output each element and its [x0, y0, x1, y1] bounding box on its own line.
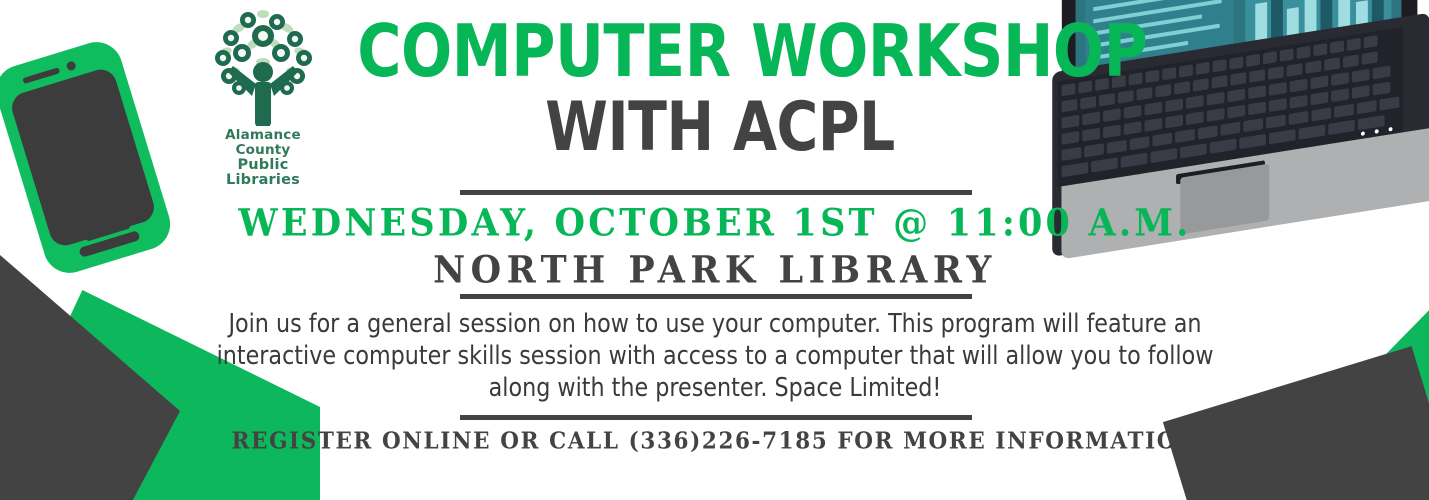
- flyer-canvas: Alamance County Public Libraries COMPUTE…: [0, 0, 1429, 500]
- event-description: Join us for a general session on how to …: [201, 308, 1229, 404]
- divider-rule-bottom: [460, 415, 972, 420]
- register-info: REGISTER ONLINE OR CALL (336)226-7185 FO…: [230, 428, 1200, 456]
- divider-rule-middle: [460, 294, 972, 299]
- headline-line-2: WITH ACPL: [357, 93, 1082, 163]
- flyer-content: COMPUTER WORKSHOP WITH ACPL WEDNESDAY, O…: [0, 0, 1429, 500]
- headline-line-1: COMPUTER WORKSHOP: [357, 14, 1082, 88]
- divider-rule-top: [460, 190, 972, 195]
- event-venue: NORTH PARK LIBRARY: [230, 249, 1200, 294]
- event-datetime: WEDNESDAY, OCTOBER 1ST @ 11:00 A.M.: [230, 202, 1200, 247]
